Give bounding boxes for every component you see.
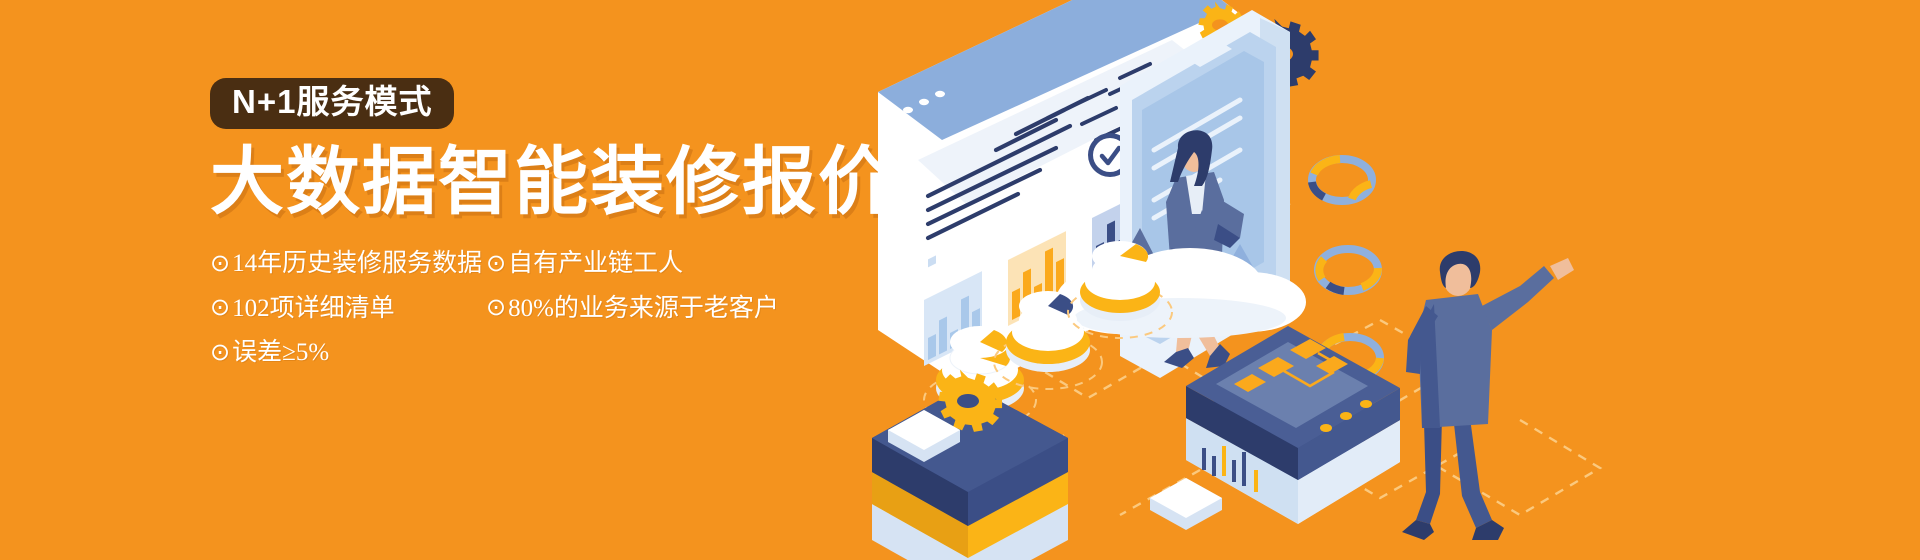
list-item: ⊙ 80%的业务来源于老客户 — [486, 295, 766, 323]
list-item-label: 14年历史装修服务数据 — [232, 250, 482, 278]
bullet-marker-icon: ⊙ — [486, 295, 506, 321]
list-item-label: 自有产业链工人 — [508, 250, 683, 278]
promo-banner: N+1服务模式 大数据智能装修报价 ⊙ 14年历史装修服务数据 ⊙ 102项详细… — [0, 0, 1920, 560]
bullet-column-left: ⊙ 14年历史装修服务数据 ⊙ 102项详细清单 ⊙ 误差≥5% — [210, 250, 460, 367]
list-item: ⊙ 误差≥5% — [210, 339, 460, 367]
list-item: ⊙ 14年历史装修服务数据 — [210, 250, 460, 278]
bullet-marker-icon: ⊙ — [210, 340, 230, 366]
list-item: ⊙ 102项详细清单 — [210, 295, 460, 323]
feature-bullets: ⊙ 14年历史装修服务数据 ⊙ 102项详细清单 ⊙ 误差≥5% ⊙ 自有产业链… — [210, 250, 910, 367]
page-title: 大数据智能装修报价 — [210, 143, 910, 221]
list-item: ⊙ 自有产业链工人 — [486, 250, 766, 278]
bullet-marker-icon: ⊙ — [486, 251, 506, 277]
copy-block: N+1服务模式 大数据智能装修报价 ⊙ 14年历史装修服务数据 ⊙ 102项详细… — [210, 78, 910, 367]
list-item-label: 80%的业务来源于老客户 — [508, 295, 779, 323]
bullet-column-right: ⊙ 自有产业链工人 ⊙ 80%的业务来源于老客户 — [486, 250, 766, 367]
bullet-marker-icon: ⊙ — [210, 295, 230, 321]
list-item-label: 误差≥5% — [232, 339, 329, 367]
hex-stack-with-gear — [872, 370, 1068, 560]
service-model-badge: N+1服务模式 — [210, 78, 454, 129]
isometric-illustration — [820, 0, 1920, 560]
bullet-marker-icon: ⊙ — [210, 251, 230, 277]
list-item-label: 102项详细清单 — [232, 295, 395, 323]
